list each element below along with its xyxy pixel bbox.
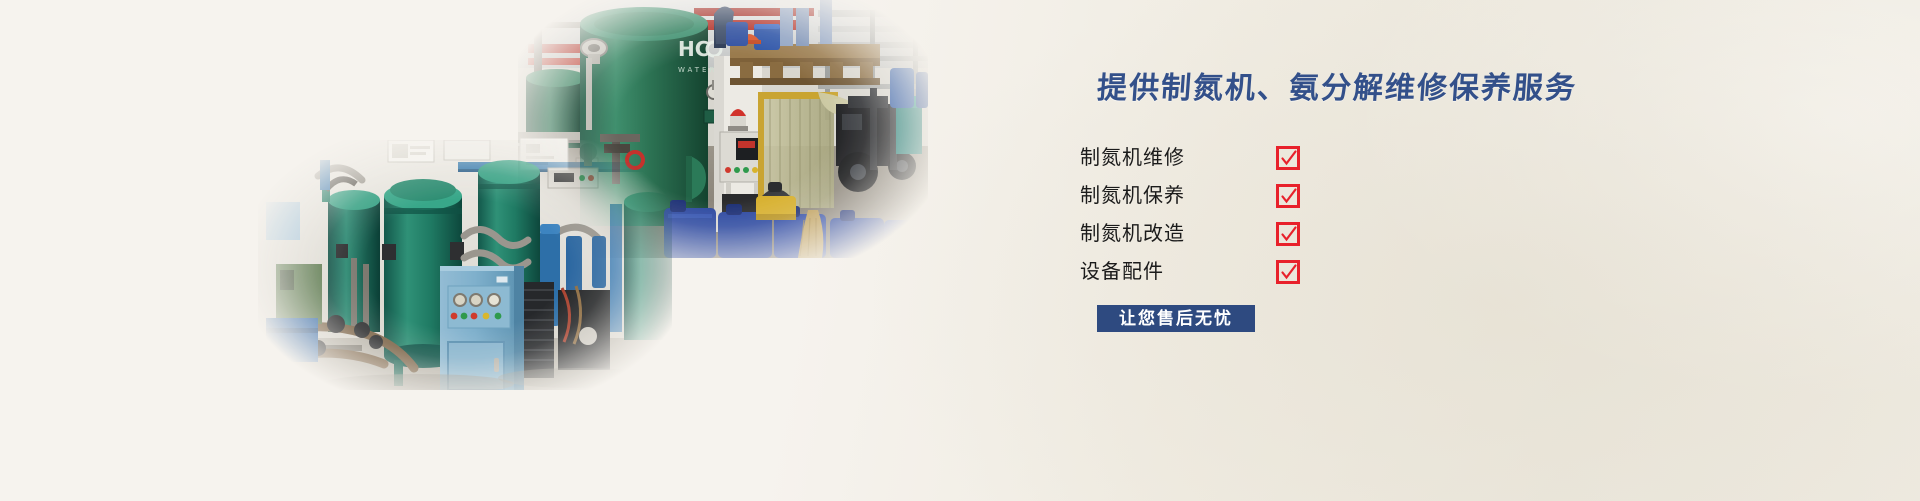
service-label: 设备配件 <box>1080 262 1276 282</box>
svg-text:HC: HC <box>678 37 709 61</box>
service-label: 制氮机维修 <box>1080 148 1276 168</box>
check-mark-icon <box>1276 146 1300 170</box>
psa-nitrogen-generator-photo <box>258 140 672 390</box>
check-mark-icon <box>1276 260 1300 284</box>
banner-content: 提供制氮机、氨分解维修保养服务 制氮机维修 制氮机保养 制氮机改造 <box>1080 74 1600 332</box>
list-item: 制氮机保养 <box>1080 180 1600 211</box>
service-banner: HC WATER <box>0 0 1920 501</box>
list-item: 制氮机维修 <box>1080 142 1600 173</box>
service-list: 制氮机维修 制氮机保养 制氮机改造 设备配件 <box>1080 142 1600 287</box>
check-mark-icon <box>1276 222 1300 246</box>
service-label: 制氮机改造 <box>1080 224 1276 244</box>
service-label: 制氮机保养 <box>1080 186 1276 206</box>
cta-button[interactable]: 让您售后无忧 <box>1097 305 1255 332</box>
list-item: 制氮机改造 <box>1080 218 1600 249</box>
check-mark-icon <box>1276 184 1300 208</box>
svg-text:WATER: WATER <box>678 66 717 74</box>
page-title: 提供制氮机、氨分解维修保养服务 <box>1096 74 1601 104</box>
list-item: 设备配件 <box>1080 256 1600 287</box>
